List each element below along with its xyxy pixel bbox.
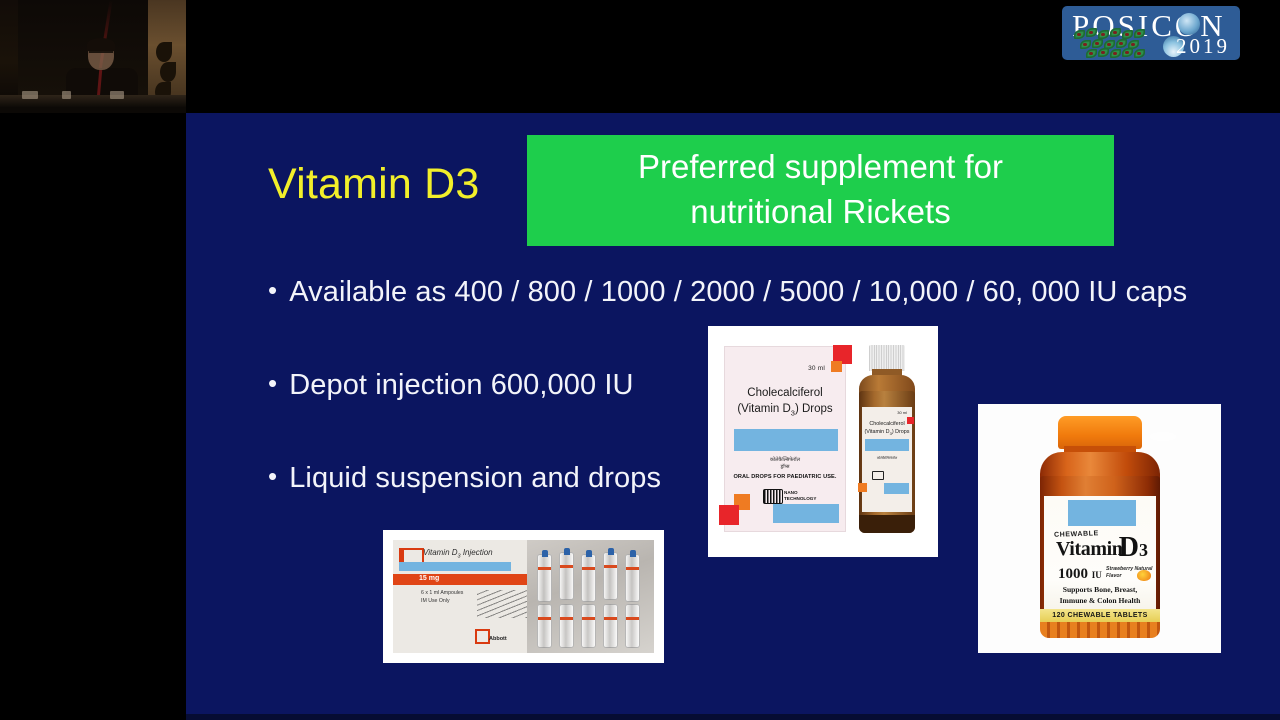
ampoule: [559, 604, 574, 648]
ampoule: [537, 604, 552, 648]
bottle-volume: 30 ml: [897, 410, 907, 415]
ampoule: [625, 604, 640, 648]
ampoule: [603, 552, 618, 600]
abbott-logo-icon: [475, 629, 490, 644]
carton-fan-text-decor: [477, 590, 527, 618]
carton-title: Cholecalciferol (Vitamin D3) Drops: [725, 385, 845, 421]
cap-highlight: [1150, 432, 1176, 441]
peacock-feather-icon: [1098, 48, 1109, 57]
product-image-vitamin-d3-injection: Vitamin D3 Injection 15 mg 6 x 1 ml Ampo…: [383, 530, 664, 663]
carton-hindi-line-2: ड्रॉप्स: [725, 464, 845, 471]
bullet-text: Depot injection 600,000 IU: [289, 369, 633, 401]
peacock-feather-icon: [1116, 39, 1127, 48]
bullet-marker: •: [268, 461, 277, 492]
bullet-marker: •: [268, 368, 277, 399]
injection-title: Vitamin D3 Injection: [423, 548, 493, 560]
carton-hindi-text: कोलेकैल्सिफेरॉल ड्रॉप्स: [725, 457, 845, 471]
bottle-photo-backdrop: CHEWABLE Vitamin D3 1000 IU Strawberry N…: [978, 404, 1221, 653]
podium-object: [62, 91, 71, 99]
redaction-bar: [773, 504, 839, 523]
ampoule: [581, 554, 596, 602]
product-image-chewable-vitamin-d3: CHEWABLE Vitamin D3 1000 IU Strawberry N…: [978, 404, 1221, 653]
carton-hindi-line-1: कोलेकैल्सिफेरॉल: [725, 457, 845, 464]
ampoule: [537, 554, 552, 602]
manufacturer-name: Abbott: [489, 636, 507, 642]
banner-line-1: Preferred supplement for: [638, 144, 1003, 189]
banner-line-2: nutritional Rickets: [690, 189, 950, 234]
page-title: Vitamin D3: [268, 160, 480, 209]
ampoule: [559, 552, 574, 600]
drops-carton: 30 ml Cholecalciferol (Vitamin D3) Drops…: [724, 346, 846, 532]
podium-object: [110, 91, 124, 99]
wall-logo-leaf-icon: [160, 62, 176, 82]
carton-red-square: [719, 505, 739, 525]
wall-logo-leaf-icon: [156, 42, 172, 62]
bottle-title: Cholecalciferol (Vitamin D3) Drops: [862, 421, 912, 437]
label-claims: Supports Bone, Breast, Immune & Colon He…: [1044, 584, 1156, 606]
injection-carton: Vitamin D3 Injection 15 mg 6 x 1 ml Ampo…: [393, 540, 529, 653]
label-strength: 1000 IU: [1058, 566, 1102, 583]
injection-pack-info: 6 x 1 ml Ampoules IM Use Only: [421, 589, 463, 605]
redaction-bar: [865, 439, 909, 451]
carton-usage-text: ORAL DROPS FOR PAEDIATRIC USE.: [725, 474, 845, 480]
manufacturer-logo-icon: [763, 489, 783, 504]
visible-tablets: [1040, 622, 1160, 638]
peacock-feather-icon: [1110, 49, 1121, 58]
slide-canvas: Vitamin D3 Preferred supplement for nutr…: [186, 113, 1280, 714]
podium-object: [22, 91, 38, 99]
redaction-bar: [399, 562, 511, 571]
carton-red-band: [393, 574, 529, 585]
ampoule-blister-tray: [527, 540, 654, 653]
carton-title-line-2: (Vitamin D3) Drops: [725, 401, 845, 421]
logo-year: 2019: [1176, 34, 1230, 59]
slide-bottom-edge: [186, 714, 1280, 720]
redaction-bar: [1068, 500, 1136, 526]
bottle-label: CHEWABLE Vitamin D3 1000 IU Strawberry N…: [1044, 496, 1156, 616]
carton-orange-square: [831, 361, 842, 372]
injection-strength: 15 mg: [419, 575, 439, 582]
redaction-bar: [734, 429, 838, 451]
fruit-icon: [1137, 570, 1151, 581]
ampoule: [581, 604, 596, 648]
speaker-video-feed: [0, 0, 186, 113]
carton-title-line-1: Cholecalciferol: [725, 385, 845, 401]
peacock-feather-icon: [1086, 49, 1097, 58]
bottle-cap: [869, 345, 905, 371]
bullet-item: •Available as 400 / 800 / 1000 / 2000 / …: [268, 275, 1187, 309]
posicon-conference-logo: POSICON 2019: [1062, 6, 1240, 60]
peacock-feather-icon: [1080, 40, 1091, 49]
bullet-item: •Depot injection 600,000 IU: [268, 368, 634, 402]
label-brand-word: Vitamin: [1056, 538, 1122, 561]
product-image-cholecalciferol-drops: 30 ml Cholecalciferol (Vitamin D3) Drops…: [708, 326, 938, 557]
carton-volume: 30 ml: [808, 365, 825, 372]
ampoule: [625, 554, 640, 602]
amber-dropper-bottle: 30 ml Cholecalciferol (Vitamin D3) Drops…: [854, 345, 920, 533]
highlight-banner: Preferred supplement for nutritional Ric…: [527, 135, 1114, 246]
bullet-item: •Liquid suspension and drops: [268, 461, 661, 495]
bullet-marker: •: [268, 275, 277, 306]
speaker-hair: [87, 38, 115, 51]
peacock-feather-icon: [1122, 48, 1133, 57]
presentation-screen: POSICON 2019 Vitamin D3 Preferred supple…: [0, 0, 1280, 720]
bullet-text: Liquid suspension and drops: [289, 462, 661, 494]
manufacturer-logo-icon: [872, 471, 884, 480]
peacock-feather-icon: [1092, 39, 1103, 48]
bottle-hindi-text: कोलेकैल्सिफेरॉल: [862, 455, 912, 460]
bullet-text: Available as 400 / 800 / 1000 / 2000 / 5…: [289, 276, 1187, 308]
bottle-label: 30 ml Cholecalciferol (Vitamin D3) Drops…: [862, 407, 912, 512]
peacock-feather-icon: [1134, 49, 1145, 58]
label-count: 120 CHEWABLE TABLETS: [1040, 612, 1160, 619]
ampoule: [603, 604, 618, 648]
bottle-base: [859, 515, 915, 533]
globe-icon: [1178, 13, 1200, 35]
redaction-bar: [884, 483, 909, 494]
bottle-cap: [1058, 416, 1142, 449]
manufacturer-name: NANO TECHNOLOGY: [784, 490, 816, 502]
speaker-glasses-icon: [89, 51, 113, 58]
label-orange-square: [858, 483, 867, 492]
label-brand-d3: D3: [1119, 532, 1148, 564]
